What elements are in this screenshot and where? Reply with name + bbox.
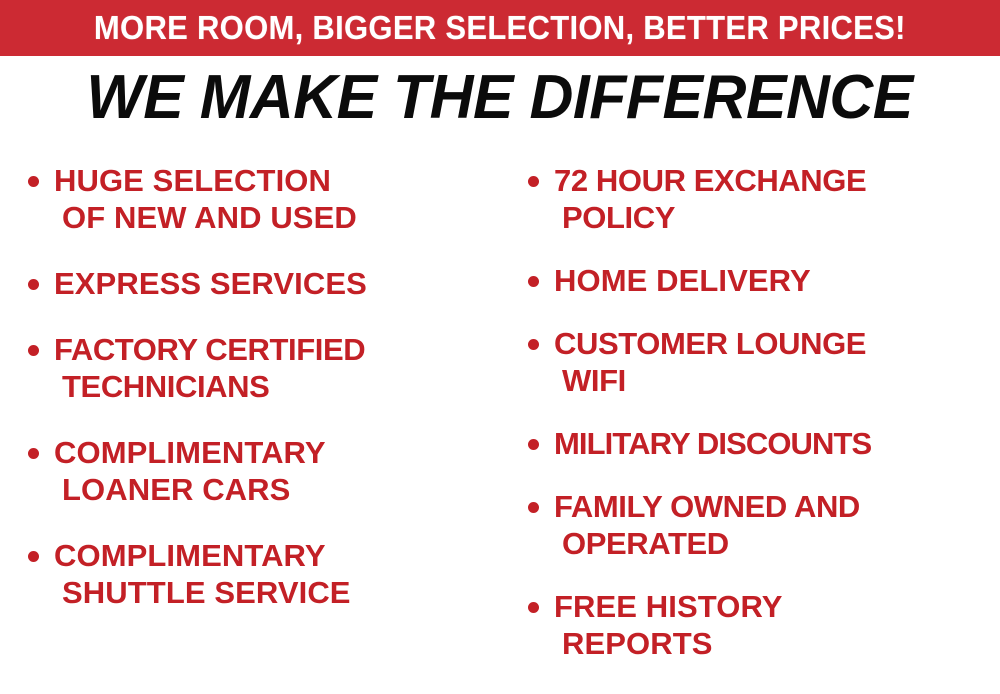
bullet-dot-icon (28, 448, 39, 459)
bullet-dot-icon (28, 345, 39, 356)
list-item-label: 72 HOUR EXCHANGE (554, 162, 1000, 199)
bullet-dot-icon (28, 279, 39, 290)
list-item: EXPRESS SERVICES (20, 265, 500, 302)
list-item-label: EXPRESS SERVICES (54, 265, 500, 302)
list-item: CUSTOMER LOUNGE WIFI (520, 325, 1000, 399)
list-item-label-line2: LOANER CARS (54, 471, 500, 508)
list-item-label: FACTORY CERTIFIED (54, 331, 500, 368)
list-item-label: HUGE SELECTION (54, 162, 500, 199)
list-item-label: FREE HISTORY (554, 588, 1000, 625)
list-item-label-line2: REPORTS (554, 625, 1000, 662)
bullet-dot-icon (528, 602, 539, 613)
list-item-label: COMPLIMENTARY (54, 537, 500, 574)
list-item-label-line2: WIFI (554, 362, 1000, 399)
list-item: HOME DELIVERY (520, 262, 1000, 299)
list-item-label-line2: TECHNICIANS (54, 368, 500, 405)
bullet-dot-icon (28, 551, 39, 562)
list-item-label-line2: OF NEW AND USED (54, 199, 500, 236)
page-title: WE MAKE THE DIFFERENCE (0, 63, 1000, 133)
list-item: 72 HOUR EXCHANGE POLICY (520, 162, 1000, 236)
list-item: FREE HISTORY REPORTS (520, 588, 1000, 662)
banner-headline-text: MORE ROOM, BIGGER SELECTION, BETTER PRIC… (94, 11, 906, 45)
list-item-label: COMPLIMENTARY (54, 434, 500, 471)
list-item-label: HOME DELIVERY (554, 262, 1000, 299)
list-item: FAMILY OWNED AND OPERATED (520, 488, 1000, 562)
bullet-dot-icon (28, 176, 39, 187)
benefits-column-left: HUGE SELECTION OF NEW AND USED EXPRESS S… (0, 150, 500, 611)
top-banner: MORE ROOM, BIGGER SELECTION, BETTER PRIC… (0, 0, 1000, 56)
benefits-column-right: 72 HOUR EXCHANGE POLICY HOME DELIVERY CU… (500, 150, 1000, 662)
page-title-text: WE MAKE THE DIFFERENCE (87, 63, 913, 133)
list-item: FACTORY CERTIFIED TECHNICIANS (20, 331, 500, 405)
list-item-label: FAMILY OWNED AND (554, 488, 1000, 525)
benefits-columns: HUGE SELECTION OF NEW AND USED EXPRESS S… (0, 150, 1000, 694)
list-item-label: MILITARY DISCOUNTS (554, 425, 1000, 462)
list-item: COMPLIMENTARY SHUTTLE SERVICE (20, 537, 500, 611)
list-item-label-line2: SHUTTLE SERVICE (54, 574, 500, 611)
list-item: MILITARY DISCOUNTS (520, 425, 1000, 462)
list-item-label: CUSTOMER LOUNGE (554, 325, 1000, 362)
list-item: COMPLIMENTARY LOANER CARS (20, 434, 500, 508)
bullet-dot-icon (528, 439, 539, 450)
list-item-label-line2: OPERATED (554, 525, 1000, 562)
bullet-dot-icon (528, 339, 539, 350)
bullet-dot-icon (528, 176, 539, 187)
poster-root: MORE ROOM, BIGGER SELECTION, BETTER PRIC… (0, 0, 1000, 694)
bullet-dot-icon (528, 276, 539, 287)
bullet-dot-icon (528, 502, 539, 513)
list-item-label-line2: POLICY (554, 199, 1000, 236)
list-item: HUGE SELECTION OF NEW AND USED (20, 162, 500, 236)
